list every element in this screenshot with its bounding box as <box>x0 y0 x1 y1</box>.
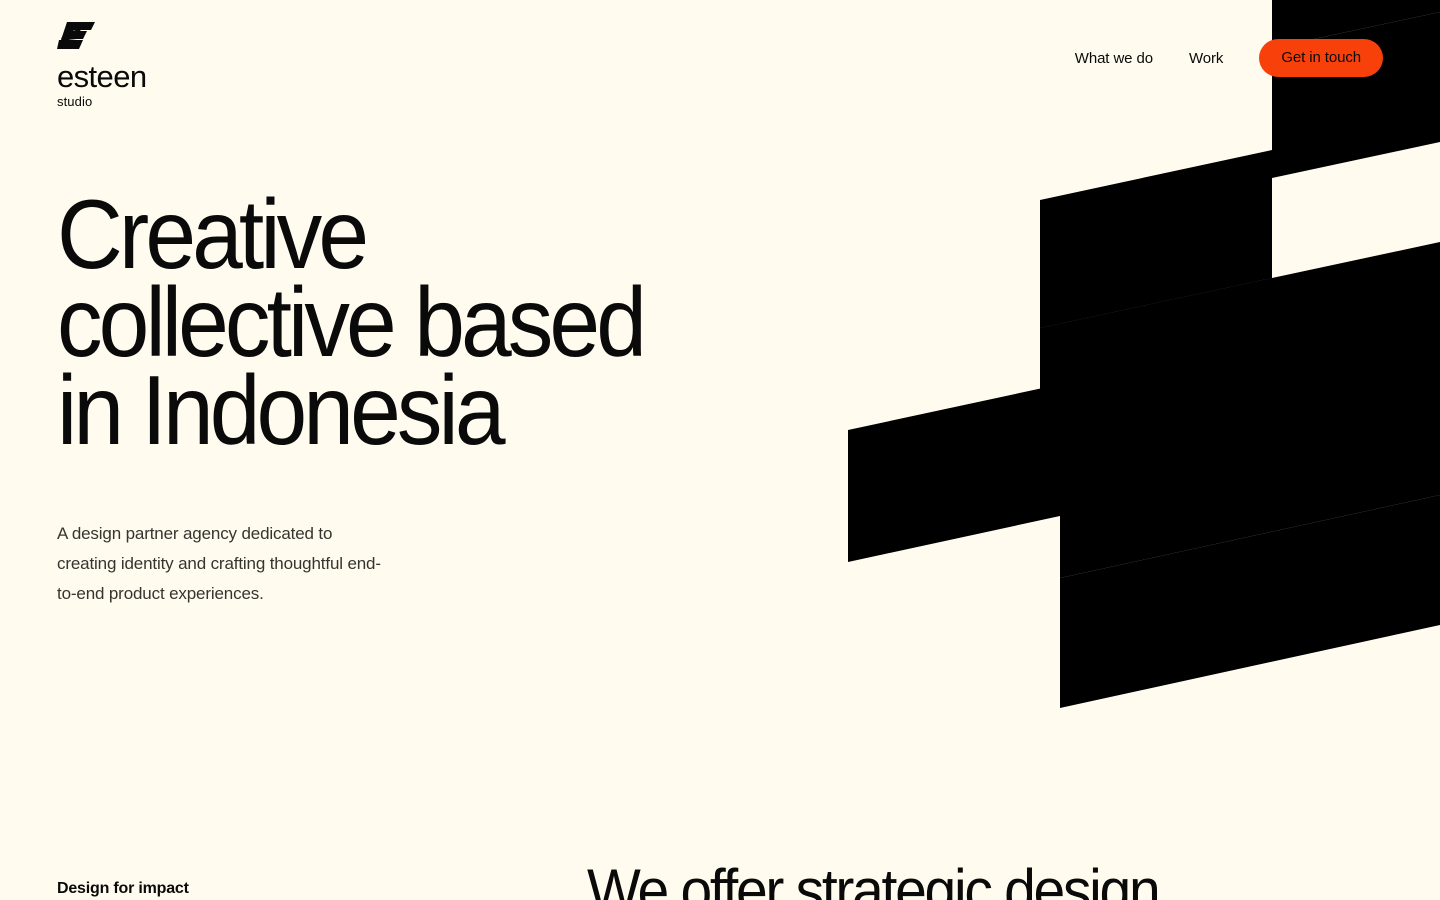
section-heading: We offer strategic design <box>587 860 1343 900</box>
shape-bar-8 <box>1060 365 1440 578</box>
section-eyebrow-label: Design for impact <box>57 860 587 898</box>
shape-bar-6 <box>1040 278 1272 445</box>
main-navigation: What we do Work Get in touch <box>1057 39 1383 77</box>
shape-bar-7 <box>848 340 1272 562</box>
brand-subtitle: studio <box>57 94 92 110</box>
esteen-logo-mark-icon <box>57 22 95 56</box>
next-section-preview: Design for impact We offer strategic des… <box>0 860 1440 900</box>
shape-bar-4 <box>1272 242 1440 408</box>
nav-item-work[interactable]: Work <box>1171 50 1241 67</box>
hero-geometric-artwork <box>820 0 1440 900</box>
shape-bar-3 <box>1040 150 1272 328</box>
brand-logo[interactable]: esteen studio <box>57 22 146 110</box>
hero-headline: Creative collective based in Indonesia <box>57 190 711 455</box>
shape-bar-5 <box>1040 278 1272 458</box>
nav-item-what-we-do[interactable]: What we do <box>1057 50 1171 67</box>
hero-subheadline: A design partner agency dedicated to cre… <box>57 519 447 609</box>
get-in-touch-button[interactable]: Get in touch <box>1259 39 1383 77</box>
page-root: esteen studio What we do Work Get in tou… <box>0 0 1440 900</box>
brand-name: esteen <box>57 62 146 91</box>
geometric-bars-graphic <box>820 0 1440 900</box>
shape-bar-9 <box>1060 495 1440 708</box>
site-header: esteen studio What we do Work Get in tou… <box>0 0 1440 118</box>
